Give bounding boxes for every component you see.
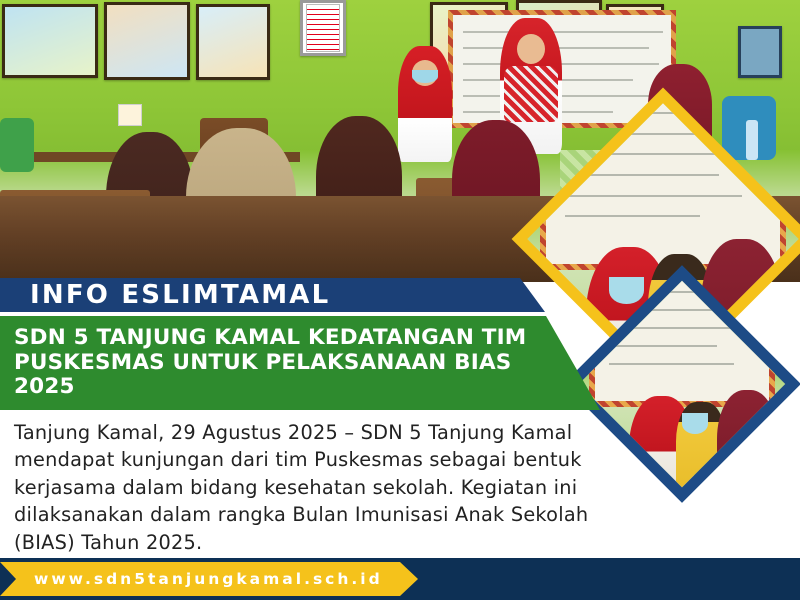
category-band: INFO ESLIMTAMAL [0,278,545,312]
category-label: INFO ESLIMTAMAL [0,280,330,310]
diamond-photo-navy-content [609,311,755,457]
headline-band: SDN 5 TANJUNG KAMAL KEDATANGAN TIM PUSKE… [0,316,600,410]
scene-assistant-2 [717,390,778,501]
headline-text: SDN 5 TANJUNG KAMAL KEDATANGAN TIM PUSKE… [0,326,540,401]
scene-face-mask-1 [609,277,644,304]
website-url[interactable]: www.sdn5tanjungkamal.sch.id [0,570,383,588]
poster-canvas: INFO ESLIMTAMAL SDN 5 TANJUNG KAMAL KEDA… [0,0,800,600]
website-ribbon: www.sdn5tanjungkamal.sch.id [0,562,418,596]
scene-face-mask-2 [682,413,708,433]
article-body: Tanjung Kamal, 29 Agustus 2025 – SDN 5 T… [14,419,604,556]
footer-bar: www.sdn5tanjungkamal.sch.id [0,558,800,600]
